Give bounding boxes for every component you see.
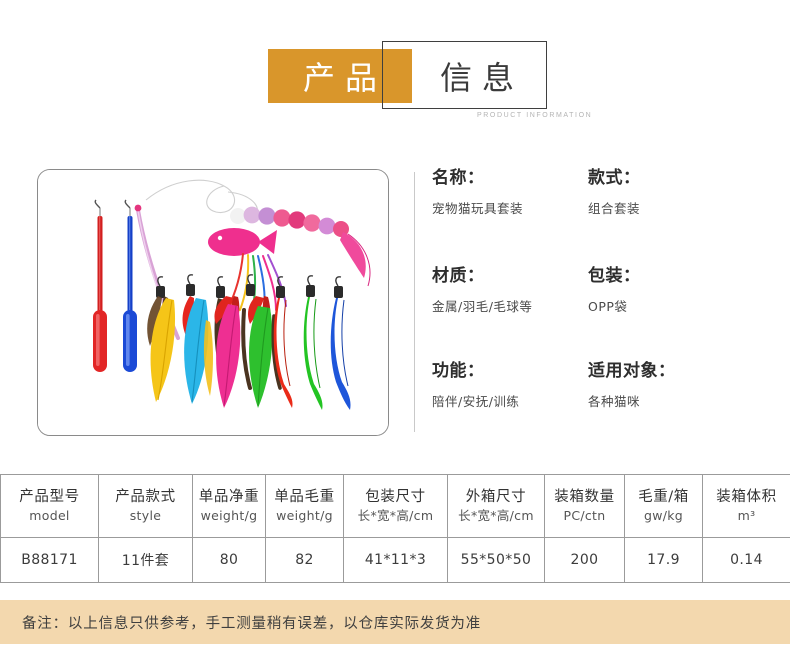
table-header-cell-carton-size: 外箱尺寸 长*宽*高/cm bbox=[448, 475, 545, 538]
header-cn: 单品净重 bbox=[193, 487, 265, 507]
cell-carton-size: 55*50*50 bbox=[448, 538, 545, 583]
specification-table-wrapper: 产品型号 model 产品款式 style 单品净重 weight/g 单品毛重… bbox=[0, 474, 790, 583]
specification-list: 名称： 宠物猫玩具套装 款式： 组合套装 材质： 金属/羽毛/毛球等 包装： O… bbox=[432, 160, 782, 445]
spec-value: 组合套装 bbox=[588, 200, 748, 217]
product-photo-illustration bbox=[38, 170, 388, 435]
table-row: B88171 11件套 80 82 41*11*3 55*50*50 200 1… bbox=[1, 538, 790, 583]
product-photo-card bbox=[37, 169, 389, 436]
table-header-cell-volume: 装箱体积 m³ bbox=[703, 475, 790, 538]
spec-row: 名称： 宠物猫玩具套装 款式： 组合套装 bbox=[432, 167, 782, 252]
spec-item-name: 名称： 宠物猫玩具套装 bbox=[432, 167, 592, 217]
spec-label: 名称： bbox=[432, 167, 592, 189]
cell-style: 11件套 bbox=[99, 538, 193, 583]
spec-value: 陪伴/安抚/训练 bbox=[432, 393, 592, 410]
header-en: gw/kg bbox=[625, 507, 702, 525]
page-header: 产品 信息 PRODUCT INFORMATION bbox=[0, 38, 790, 118]
spec-row: 材质： 金属/羽毛/毛球等 包装： OPP袋 bbox=[432, 265, 782, 350]
spec-label: 材质： bbox=[432, 265, 592, 287]
header-cn: 产品型号 bbox=[1, 487, 98, 507]
header-cn: 产品款式 bbox=[99, 487, 192, 507]
spec-item-material: 材质： 金属/羽毛/毛球等 bbox=[432, 265, 592, 315]
header-cn: 单品毛重 bbox=[266, 487, 343, 507]
header-en: weight/g bbox=[266, 507, 343, 525]
spec-label: 功能： bbox=[432, 360, 592, 382]
table-header-cell-qty: 装箱数量 PC/ctn bbox=[545, 475, 625, 538]
cell-model: B88171 bbox=[1, 538, 99, 583]
spec-label: 款式： bbox=[588, 167, 748, 189]
header-en: m³ bbox=[703, 507, 790, 525]
header-cn: 包装尺寸 bbox=[344, 487, 447, 507]
footer-note-text: 备注：以上信息只供参考，手工测量稍有误差，以仓库实际发货为准 bbox=[22, 612, 481, 633]
spec-row: 功能： 陪伴/安抚/训练 适用对象： 各种猫咪 bbox=[432, 360, 782, 445]
header-cn: 装箱体积 bbox=[703, 487, 790, 507]
spec-value: 金属/羽毛/毛球等 bbox=[432, 298, 592, 315]
header-en: 长*宽*高/cm bbox=[344, 507, 447, 525]
spec-value: OPP袋 bbox=[588, 298, 748, 315]
header-cn: 装箱数量 bbox=[545, 487, 624, 507]
content-divider bbox=[414, 172, 415, 432]
spec-item-function: 功能： 陪伴/安抚/训练 bbox=[432, 360, 592, 410]
table-header-cell-style: 产品款式 style bbox=[99, 475, 193, 538]
table-header-row: 产品型号 model 产品款式 style 单品净重 weight/g 单品毛重… bbox=[1, 475, 790, 538]
spec-value: 宠物猫玩具套装 bbox=[432, 200, 592, 217]
page-title-rest: 信息 bbox=[412, 49, 542, 103]
cell-volume: 0.14 bbox=[703, 538, 790, 583]
page-subtitle-en: PRODUCT INFORMATION bbox=[477, 112, 592, 119]
spec-value: 各种猫咪 bbox=[588, 393, 748, 410]
spec-item-packaging: 包装： OPP袋 bbox=[588, 265, 748, 315]
spec-label: 包装： bbox=[588, 265, 748, 287]
cell-net-weight: 80 bbox=[193, 538, 266, 583]
table-header-cell-model: 产品型号 model bbox=[1, 475, 99, 538]
product-photo bbox=[38, 170, 388, 435]
table-header-cell-net-weight: 单品净重 weight/g bbox=[193, 475, 266, 538]
table-header-cell-carton-weight: 毛重/箱 gw/kg bbox=[625, 475, 703, 538]
cell-carton-weight: 17.9 bbox=[625, 538, 703, 583]
header-en: model bbox=[1, 507, 98, 525]
spec-item-target: 适用对象： 各种猫咪 bbox=[588, 360, 748, 410]
cell-qty: 200 bbox=[545, 538, 625, 583]
spec-label: 适用对象： bbox=[588, 360, 748, 382]
main-content: 名称： 宠物猫玩具套装 款式： 组合套装 材质： 金属/羽毛/毛球等 包装： O… bbox=[0, 160, 790, 445]
table-header-cell-pack-size: 包装尺寸 长*宽*高/cm bbox=[344, 475, 448, 538]
header-en: 长*宽*高/cm bbox=[448, 507, 544, 525]
header-cn: 外箱尺寸 bbox=[448, 487, 544, 507]
specification-table: 产品型号 model 产品款式 style 单品净重 weight/g 单品毛重… bbox=[0, 474, 790, 583]
footer-note-bar: 备注：以上信息只供参考，手工测量稍有误差，以仓库实际发货为准 bbox=[0, 600, 790, 644]
spec-item-style: 款式： 组合套装 bbox=[588, 167, 748, 217]
header-en: style bbox=[99, 507, 192, 525]
product-information-page: 产品 信息 PRODUCT INFORMATION bbox=[0, 0, 790, 670]
cell-gross-weight: 82 bbox=[266, 538, 344, 583]
table-header-cell-gross-weight: 单品毛重 weight/g bbox=[266, 475, 344, 538]
header-en: weight/g bbox=[193, 507, 265, 525]
header-cn: 毛重/箱 bbox=[625, 487, 702, 507]
cell-pack-size: 41*11*3 bbox=[344, 538, 448, 583]
header-en: PC/ctn bbox=[545, 507, 624, 525]
page-title-highlight: 产品 bbox=[268, 49, 412, 103]
